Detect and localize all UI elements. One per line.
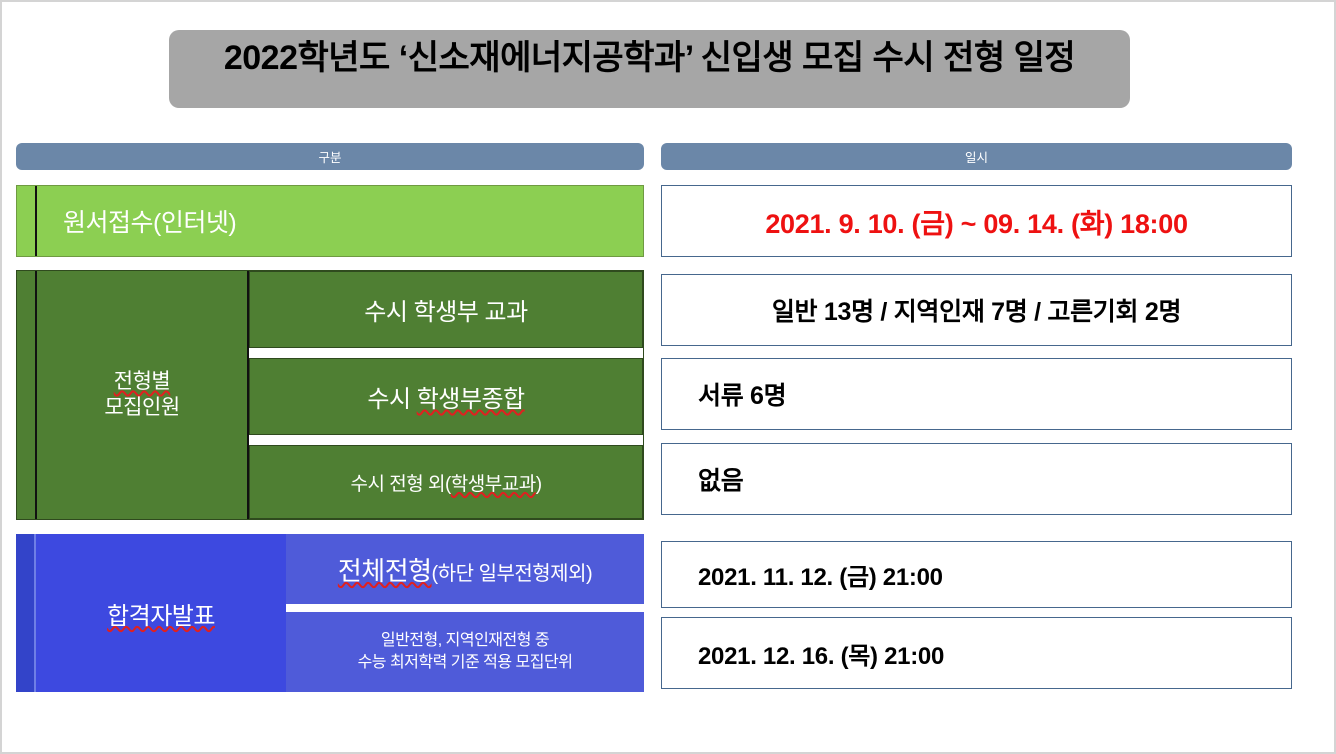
quota-subrow-susi-gyogwa: 수시 학생부 교과: [249, 271, 643, 348]
result-subrow-2-line1: 일반전형, 지역인재전형 중: [381, 632, 549, 649]
row-result-label-text: 합격자발표: [107, 596, 215, 631]
result-subrow-1-main: 전체전형: [338, 556, 432, 586]
row-application: 원서접수(인터넷): [16, 185, 644, 257]
result-subrow-all: 전체전형(하단 일부전형제외): [286, 534, 644, 604]
row-quota: 전형별 모집인원 수시 학생부 교과 수시 학생부종합 수시 전형 외(학생부교…: [16, 270, 644, 520]
row-result-edge: [16, 534, 34, 692]
slide-canvas: 2022학년도 ‘신소재에너지공학과’ 신입생 모집 수시 전형 일정 구분 일…: [0, 0, 1336, 754]
row-application-label: 원서접수(인터넷): [37, 186, 643, 256]
page-title: 2022학년도 ‘신소재에너지공학과’ 신입생 모집 수시 전형 일정: [169, 40, 1130, 77]
quota-subrow-2-text-b: 학생부종합: [417, 386, 525, 413]
quota-subrow-3-text-a: 수시 전형 외(: [350, 474, 450, 495]
row-quota-label: 전형별 모집인원: [37, 271, 249, 519]
row-result-main: 합격자발표 전체전형(하단 일부전형제외) 일반전형, 지역인재전형 중 수능 …: [36, 534, 644, 692]
row-quota-edge: [17, 271, 35, 519]
result-subrow-minimum: 일반전형, 지역인재전형 중 수능 최저학력 기준 적용 모집단위: [286, 612, 644, 692]
row-quota-label-line2: 모집인원: [104, 396, 179, 419]
result-subrow-2-line2: 수능 최저학력 기준 적용 모집단위: [358, 654, 573, 671]
column-header-datetime-label: 일시: [965, 147, 988, 166]
quota-subrow-3-text-c: ): [536, 474, 542, 495]
value-quota-jonghap: 서류 6명: [661, 358, 1292, 430]
row-quota-label-line1: 전형별: [114, 370, 170, 393]
value-application-period: 2021. 9. 10. (금) ~ 09. 14. (화) 18:00: [661, 185, 1292, 257]
quota-subrow-1-text-a: 수시: [364, 299, 413, 326]
row-result-announcement: 합격자발표 전체전형(하단 일부전형제외) 일반전형, 지역인재전형 중 수능 …: [16, 534, 644, 692]
value-result-all: 2021. 11. 12. (금) 21:00: [661, 541, 1292, 608]
page-title-banner: 2022학년도 ‘신소재에너지공학과’ 신입생 모집 수시 전형 일정: [169, 30, 1130, 108]
value-quota-other: 없음: [661, 443, 1292, 515]
quota-subrow-2-text-a: 수시: [367, 386, 416, 413]
row-result-subcells: 전체전형(하단 일부전형제외) 일반전형, 지역인재전형 중 수능 최저학력 기…: [286, 534, 644, 692]
value-quota-gyogwa: 일반 13명 / 지역인재 7명 / 고른기회 2명: [661, 274, 1292, 346]
quota-subrow-1-text-b: 학생부 교과: [414, 299, 528, 326]
row-quota-subcells: 수시 학생부 교과 수시 학생부종합 수시 전형 외(학생부교과): [249, 271, 643, 519]
row-quota-main: 전형별 모집인원 수시 학생부 교과 수시 학생부종합 수시 전형 외(학생부교…: [37, 271, 643, 519]
column-header-category-label: 구분: [318, 147, 341, 166]
row-application-edge: [17, 186, 35, 256]
quota-subrow-3-text-b: 학생부교과: [451, 474, 536, 495]
value-result-minimum: 2021. 12. 16. (목) 21:00: [661, 617, 1292, 689]
quota-subrow-susi-other: 수시 전형 외(학생부교과): [249, 445, 643, 519]
column-header-category: 구분: [16, 143, 644, 170]
column-header-datetime: 일시: [661, 143, 1292, 170]
result-subrow-1-sub: (하단 일부전형제외): [432, 563, 593, 585]
quota-subrow-susi-jonghap: 수시 학생부종합: [249, 358, 643, 435]
row-result-label: 합격자발표: [36, 534, 286, 692]
